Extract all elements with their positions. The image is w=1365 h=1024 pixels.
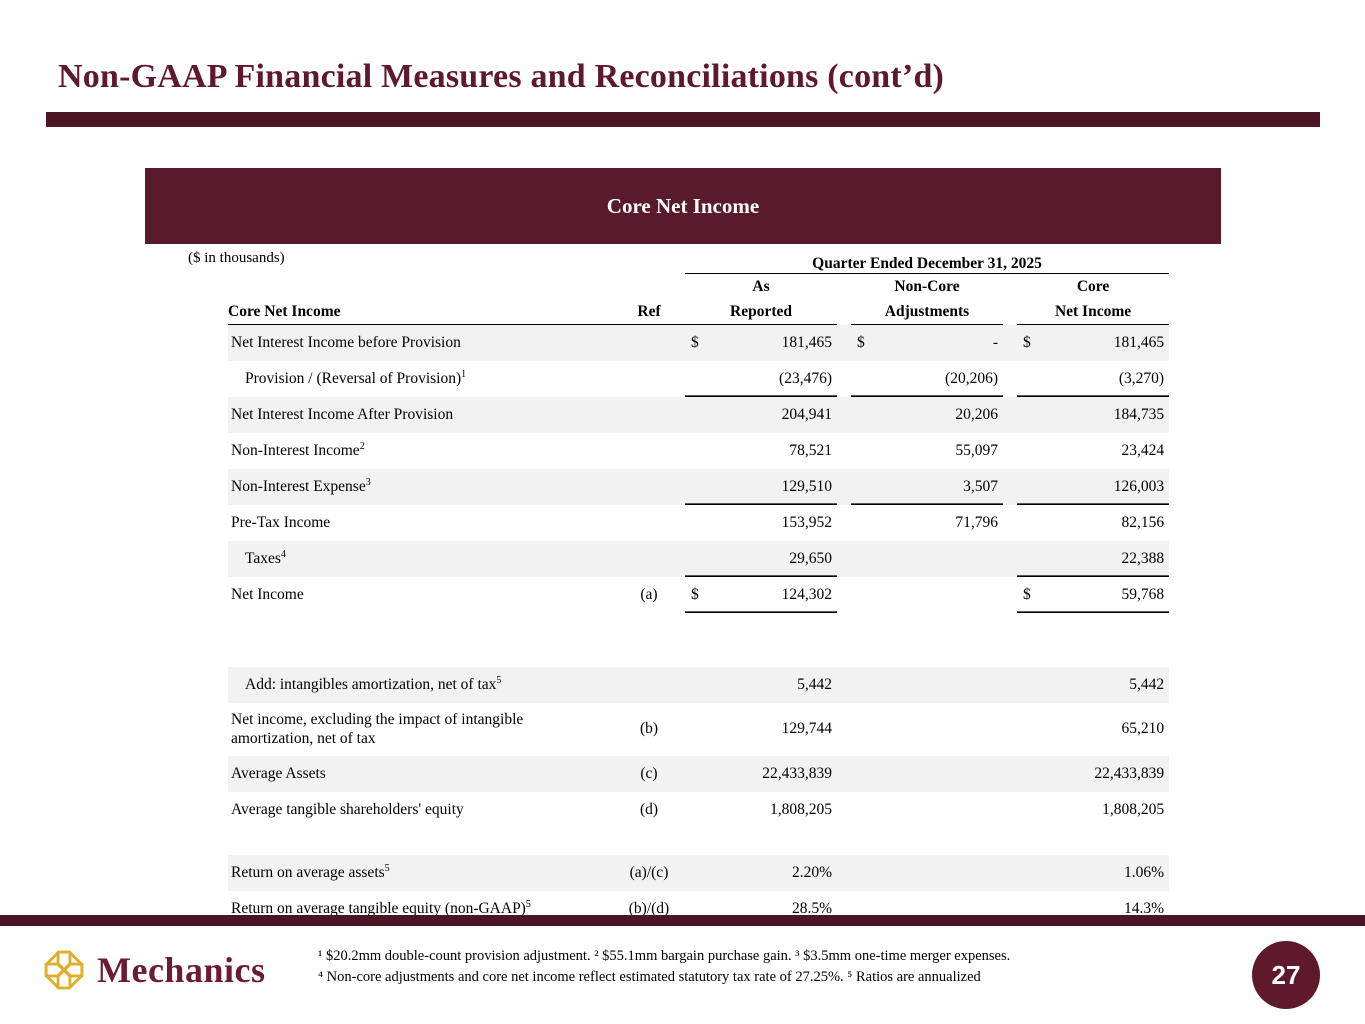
row-ref — [613, 667, 685, 703]
row-core-net-income-value: 22,388 — [1121, 550, 1164, 567]
footnote-line-1: ¹ $20.2mm double-count provision adjustm… — [318, 946, 1148, 967]
footer-divider — [0, 915, 1365, 926]
page-title: Non-GAAP Financial Measures and Reconcil… — [58, 58, 944, 96]
row-core-net-income-value: (3,270) — [1119, 370, 1164, 387]
row-label-cell: Non-Interest Income2 — [228, 433, 613, 469]
table-row: Add: intangibles amortization, net of ta… — [228, 667, 1169, 703]
column-header-line2-row: Core Net Income Ref Reported Adjustments… — [228, 299, 1169, 325]
row-as-reported-value: 204,941 — [782, 406, 832, 423]
row-label-cell: Average tangible shareholders' equity — [228, 792, 613, 828]
row-label: Average tangible shareholders' equity — [231, 801, 464, 818]
row-label: Net Interest Income After Provision — [231, 406, 453, 423]
row-non-core-adjustments: $- — [851, 325, 1003, 361]
row-label-cell: Add: intangibles amortization, net of ta… — [228, 667, 613, 703]
row-label: Pre-Tax Income — [231, 514, 330, 531]
row-core-net-income-value: 181,465 — [1114, 334, 1164, 351]
row-ref: (d) — [613, 792, 685, 828]
row-ref — [613, 397, 685, 433]
row-label-footnote-marker: 5 — [385, 863, 390, 874]
row-as-reported: 204,941 — [685, 397, 837, 433]
row-non-core-adjustments — [851, 667, 1003, 703]
row-label: Net Interest Income before Provision — [231, 334, 461, 351]
row-label: Net Income — [231, 586, 304, 603]
row-core-net-income-value: 82,156 — [1121, 514, 1164, 531]
row-non-core-adjustments-value: 55,097 — [955, 442, 998, 459]
table-spacer-row — [228, 640, 1169, 667]
col-header-ref: Ref — [613, 299, 685, 325]
row-as-reported-value: 28.5% — [792, 900, 832, 917]
table-row: Pre-Tax Income153,95271,79682,156 — [228, 505, 1169, 541]
row-core-net-income: 1,808,205 — [1017, 792, 1169, 828]
row-ref — [613, 325, 685, 361]
row-as-reported-value: 5,442 — [797, 676, 832, 693]
row-label-cell: Taxes4 — [228, 541, 613, 577]
row-label: Provision / (Reversal of Provision) — [245, 370, 461, 387]
row-non-core-adjustments-value: 3,507 — [963, 478, 998, 495]
row-as-reported-value: 129,744 — [782, 720, 832, 737]
row-non-core-adjustments — [851, 541, 1003, 577]
row-ref: (b) — [613, 703, 685, 756]
row-core-net-income: 65,210 — [1017, 703, 1169, 756]
footnote-line-2: ⁴ Non-core adjustments and core net inco… — [318, 967, 1148, 988]
section-banner-title: Core Net Income — [607, 194, 759, 219]
title-divider — [46, 112, 1320, 127]
row-core-net-income-value: 59,768 — [1121, 586, 1164, 603]
row-label-cell: Net Income — [228, 577, 613, 613]
col-header-as-reported: Reported — [685, 299, 837, 325]
table-row: Net income, excluding the impact of inta… — [228, 703, 1169, 756]
row-as-reported: (23,476) — [685, 361, 837, 397]
row-label: Return on average assets — [231, 864, 385, 881]
row-as-reported: 153,952 — [685, 505, 837, 541]
row-non-core-adjustments — [851, 756, 1003, 792]
row-as-reported: $181,465 — [685, 325, 837, 361]
row-label: Non-Interest Income — [231, 442, 360, 459]
mechanics-knot-icon — [42, 948, 86, 992]
section-banner: Core Net Income — [145, 168, 1221, 244]
row-core-net-income-value: 126,003 — [1114, 478, 1164, 495]
col-header-label: Core Net Income — [228, 299, 613, 325]
row-label-cell: Net Interest Income before Provision — [228, 325, 613, 361]
row-ref — [613, 505, 685, 541]
row-label-cell: Average Assets — [228, 756, 613, 792]
table-row: Non-Interest Expense3129,5103,507126,003 — [228, 469, 1169, 505]
col-header-noncore: Non-Core — [851, 274, 1003, 300]
row-non-core-adjustments-currency: $ — [857, 334, 865, 352]
row-non-core-adjustments: 20,206 — [851, 397, 1003, 433]
row-as-reported-value: 181,465 — [782, 334, 832, 351]
row-as-reported-currency: $ — [691, 586, 699, 604]
table-row: Average Assets(c)22,433,83922,433,839 — [228, 756, 1169, 792]
row-core-net-income-currency: $ — [1023, 334, 1031, 352]
table-row: Provision / (Reversal of Provision)1(23,… — [228, 361, 1169, 397]
row-label-footnote-marker: 5 — [526, 899, 531, 910]
row-label-cell: Return on average assets5 — [228, 855, 613, 891]
row-core-net-income: 23,424 — [1017, 433, 1169, 469]
row-as-reported-value: 124,302 — [782, 586, 832, 603]
row-non-core-adjustments: 3,507 — [851, 469, 1003, 505]
row-core-net-income: 22,433,839 — [1017, 756, 1169, 792]
row-as-reported: 29,650 — [685, 541, 837, 577]
row-core-net-income-value: 1,808,205 — [1102, 801, 1164, 818]
row-core-net-income-value: 65,210 — [1121, 720, 1164, 737]
row-non-core-adjustments-value: 20,206 — [955, 406, 998, 423]
row-ref — [613, 361, 685, 397]
row-ref: (a)/(c) — [613, 855, 685, 891]
brand-name: Mechanics — [97, 949, 265, 991]
row-label-footnote-marker: 2 — [360, 441, 365, 452]
financial-table-wrapper: Quarter Ended December 31, 2025 As Non-C… — [228, 255, 1143, 927]
row-core-net-income-value: 14.3% — [1124, 900, 1164, 917]
row-label-cell: Pre-Tax Income — [228, 505, 613, 541]
table-row: Return on average assets5(a)/(c)2.20%1.0… — [228, 855, 1169, 891]
row-core-net-income: (3,270) — [1017, 361, 1169, 397]
table-row: Net Interest Income After Provision204,9… — [228, 397, 1169, 433]
row-as-reported-value: 2.20% — [792, 864, 832, 881]
row-label: Non-Interest Expense — [231, 478, 366, 495]
row-as-reported-value: 78,521 — [789, 442, 832, 459]
table-row: Net Income(a)$124,302$59,768 — [228, 577, 1169, 613]
row-core-net-income: $181,465 — [1017, 325, 1169, 361]
row-as-reported-value: 1,808,205 — [770, 801, 832, 818]
row-label: Taxes — [245, 550, 281, 567]
row-non-core-adjustments: 55,097 — [851, 433, 1003, 469]
row-non-core-adjustments-value: - — [993, 334, 998, 351]
row-label-footnote-marker: 3 — [366, 477, 371, 488]
row-label: Average Assets — [231, 765, 326, 782]
row-core-net-income-value: 1.06% — [1124, 864, 1164, 881]
row-core-net-income-value: 22,433,839 — [1094, 765, 1164, 782]
row-core-net-income-value: 5,442 — [1129, 676, 1164, 693]
row-non-core-adjustments — [851, 792, 1003, 828]
period-header-row: Quarter Ended December 31, 2025 — [228, 255, 1169, 274]
column-header-line1-row: As Non-Core Core — [228, 274, 1169, 300]
row-as-reported: $124,302 — [685, 577, 837, 613]
row-non-core-adjustments — [851, 703, 1003, 756]
row-as-reported: 1,808,205 — [685, 792, 837, 828]
table-spacer-row — [228, 613, 1169, 640]
row-as-reported: 22,433,839 — [685, 756, 837, 792]
table-body: Net Interest Income before Provision$181… — [228, 325, 1169, 927]
col-header-as: As — [685, 274, 837, 300]
row-core-net-income-value: 184,735 — [1114, 406, 1164, 423]
period-header: Quarter Ended December 31, 2025 — [685, 255, 1169, 274]
col-header-core: Core — [1017, 274, 1169, 300]
row-core-net-income: $59,768 — [1017, 577, 1169, 613]
table-row: Average tangible shareholders' equity(d)… — [228, 792, 1169, 828]
row-core-net-income: 184,735 — [1017, 397, 1169, 433]
table-row: Net Interest Income before Provision$181… — [228, 325, 1169, 361]
row-core-net-income-value: 23,424 — [1121, 442, 1164, 459]
row-non-core-adjustments: 71,796 — [851, 505, 1003, 541]
page-number-badge: 27 — [1252, 941, 1320, 1009]
row-as-reported: 2.20% — [685, 855, 837, 891]
brand-logo: Mechanics — [42, 948, 265, 992]
table-row: Non-Interest Income278,52155,09723,424 — [228, 433, 1169, 469]
col-header-core-net-income: Net Income — [1017, 299, 1169, 325]
table-head: Quarter Ended December 31, 2025 As Non-C… — [228, 255, 1169, 325]
col-header-noncore-adjustments: Adjustments — [851, 299, 1003, 325]
table-spacer-row — [228, 828, 1169, 855]
row-as-reported: 129,744 — [685, 703, 837, 756]
row-non-core-adjustments-value: (20,206) — [945, 370, 998, 387]
row-core-net-income: 82,156 — [1017, 505, 1169, 541]
row-non-core-adjustments-value: 71,796 — [955, 514, 998, 531]
row-as-reported: 5,442 — [685, 667, 837, 703]
row-label-footnote-marker: 4 — [281, 549, 286, 560]
row-core-net-income: 22,388 — [1017, 541, 1169, 577]
row-as-reported: 129,510 — [685, 469, 837, 505]
row-label-cell: Net income, excluding the impact of inta… — [228, 703, 613, 756]
row-non-core-adjustments — [851, 855, 1003, 891]
row-as-reported-value: 129,510 — [782, 478, 832, 495]
row-label: Net income, excluding the impact of inta… — [231, 711, 523, 747]
row-core-net-income-currency: $ — [1023, 586, 1031, 604]
row-ref — [613, 433, 685, 469]
row-label-cell: Provision / (Reversal of Provision)1 — [228, 361, 613, 397]
row-as-reported-value: 153,952 — [782, 514, 832, 531]
row-as-reported: 78,521 — [685, 433, 837, 469]
row-core-net-income: 5,442 — [1017, 667, 1169, 703]
row-label-cell: Net Interest Income After Provision — [228, 397, 613, 433]
row-as-reported-value: (23,476) — [779, 370, 832, 387]
footnotes: ¹ $20.2mm double-count provision adjustm… — [318, 946, 1148, 988]
row-ref — [613, 541, 685, 577]
row-non-core-adjustments — [851, 577, 1003, 613]
row-label-footnote-marker: 5 — [496, 675, 501, 686]
row-label-cell: Non-Interest Expense3 — [228, 469, 613, 505]
row-ref — [613, 469, 685, 505]
row-core-net-income: 126,003 — [1017, 469, 1169, 505]
row-label-footnote-marker: 1 — [461, 369, 466, 380]
row-core-net-income: 1.06% — [1017, 855, 1169, 891]
row-ref: (c) — [613, 756, 685, 792]
row-non-core-adjustments: (20,206) — [851, 361, 1003, 397]
row-ref: (a) — [613, 577, 685, 613]
table-row: Taxes429,65022,388 — [228, 541, 1169, 577]
row-label: Add: intangibles amortization, net of ta… — [245, 676, 496, 693]
row-as-reported-currency: $ — [691, 334, 699, 352]
row-as-reported-value: 22,433,839 — [762, 765, 832, 782]
core-net-income-table: Quarter Ended December 31, 2025 As Non-C… — [228, 255, 1169, 927]
row-as-reported-value: 29,650 — [789, 550, 832, 567]
